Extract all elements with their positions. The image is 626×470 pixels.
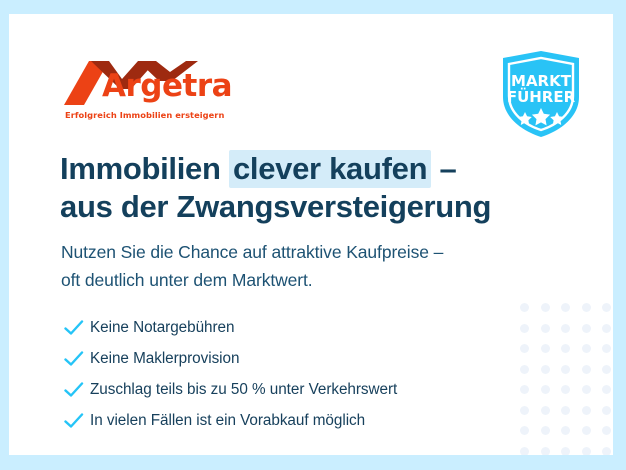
subheadline: Nutzen Sie die Chance auf attraktive Kau… [61, 238, 531, 294]
subheadline-line2: oft deutlich unter dem Marktwert. [61, 266, 531, 294]
shield-badge-icon: MARKT FÜHRER [498, 49, 584, 139]
logo-tagline: Erfolgreich Immobilien ersteigern [65, 110, 224, 120]
page-title: Immobilien clever kaufen – aus der Zwang… [60, 150, 530, 226]
list-item-label: Keine Maklerprovision [90, 350, 239, 368]
logo-wordmark: Argetra [102, 71, 232, 102]
list-item-label: Keine Notargebühren [90, 319, 234, 337]
check-icon [64, 320, 90, 336]
headline-highlight: clever kaufen [229, 150, 431, 188]
check-icon [64, 351, 90, 367]
headline-line1-before: Immobilien [60, 151, 229, 186]
check-icon [64, 413, 90, 429]
dot-grid-decoration [520, 303, 613, 455]
list-item: Keine Maklerprovision [64, 343, 514, 374]
list-item-label: In vielen Fällen ist ein Vorabkauf mögli… [90, 412, 365, 430]
list-item: Keine Notargebühren [64, 312, 514, 343]
list-item-label: Zuschlag teils bis zu 50 % unter Verkehr… [90, 381, 397, 399]
list-item: Zuschlag teils bis zu 50 % unter Verkehr… [64, 374, 514, 405]
subheadline-line1: Nutzen Sie die Chance auf attraktive Kau… [61, 238, 531, 266]
promo-banner: Argetra Erfolgreich Immobilien ersteiger… [0, 0, 626, 470]
check-icon [64, 382, 90, 398]
argetra-logo[interactable]: Argetra Erfolgreich Immobilien ersteiger… [64, 59, 214, 121]
headline-line1-after: – [431, 151, 456, 186]
headline-line2: aus der Zwangsversteigerung [60, 188, 530, 226]
banner-card: Argetra Erfolgreich Immobilien ersteiger… [9, 14, 613, 455]
list-item: In vielen Fällen ist ein Vorabkauf mögli… [64, 405, 514, 436]
badge-line2: FÜHRER [507, 87, 576, 106]
benefits-checklist: Keine Notargebühren Keine Maklerprovisio… [64, 312, 514, 436]
